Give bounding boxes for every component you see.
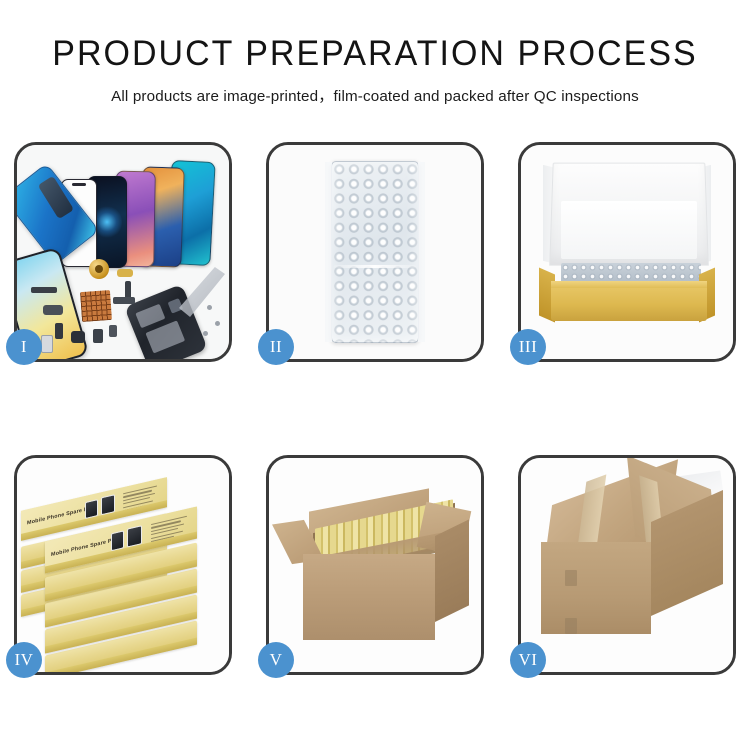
carton-front-face [303, 554, 435, 640]
step-card-2: II [266, 142, 484, 362]
page-subtitle: All products are image-printed，film-coat… [0, 84, 750, 106]
open-carton-illustration [269, 458, 481, 672]
step-card-5: V [266, 455, 484, 675]
step-badge-6: VI [510, 642, 546, 678]
step-card-6: VI [518, 455, 736, 675]
inner-box-illustration [521, 145, 733, 359]
process-grid: I II [14, 142, 736, 675]
header: PRODUCT PREPARATION PROCESS All products… [0, 0, 750, 106]
step-image-2 [269, 145, 481, 359]
ribbon-cable-part [113, 297, 135, 304]
step-badge-5: V [258, 642, 294, 678]
small-part-6 [109, 325, 117, 337]
wrap-seam [334, 265, 416, 268]
step-card-1: I [14, 142, 232, 362]
battery-part [41, 335, 53, 353]
flex-cable-part [31, 287, 57, 293]
step-badge-2: II [258, 329, 294, 365]
step-image-5 [269, 458, 481, 672]
carton-front-face [541, 542, 651, 634]
box-tray-lip [551, 281, 707, 288]
small-part-5 [93, 329, 103, 343]
infographic-page: PRODUCT PREPARATION PROCESS All products… [0, 0, 750, 750]
bubble-wrapped-product [331, 161, 419, 343]
screw-icon [215, 321, 220, 326]
step-card-4: Mobile Phone Spare Parts Mobile Pho [14, 455, 232, 675]
step-image-4: Mobile Phone Spare Parts Mobile Pho [17, 458, 229, 672]
step-image-1 [17, 145, 229, 359]
copper-grid-part [80, 290, 112, 322]
gold-contact-part [117, 269, 133, 277]
step-badge-3: III [510, 329, 546, 365]
bubble-wrap-illustration [269, 145, 481, 359]
carton-side-face [435, 519, 469, 622]
screw-icon [203, 331, 208, 336]
foam-padding [561, 201, 697, 259]
products-illustration [17, 145, 229, 359]
small-part-4 [71, 331, 85, 343]
connector-part [43, 305, 63, 315]
small-part-3 [55, 323, 63, 339]
carton-seam-tab [565, 570, 577, 586]
step-card-3: III [518, 142, 736, 362]
sealed-carton-illustration [521, 458, 733, 672]
step-image-3 [521, 145, 733, 359]
screw-icon [207, 305, 212, 310]
step-badge-1: I [6, 329, 42, 365]
coil-part-icon [89, 259, 109, 279]
page-title: PRODUCT PREPARATION PROCESS [11, 34, 739, 74]
step-image-6 [521, 458, 733, 672]
box-tray-front [551, 285, 707, 321]
stacked-boxes-illustration: Mobile Phone Spare Parts Mobile Pho [17, 458, 229, 672]
tweezers-icon [179, 267, 225, 317]
carton-seam-tab [565, 618, 577, 634]
step-badge-4: IV [6, 642, 42, 678]
